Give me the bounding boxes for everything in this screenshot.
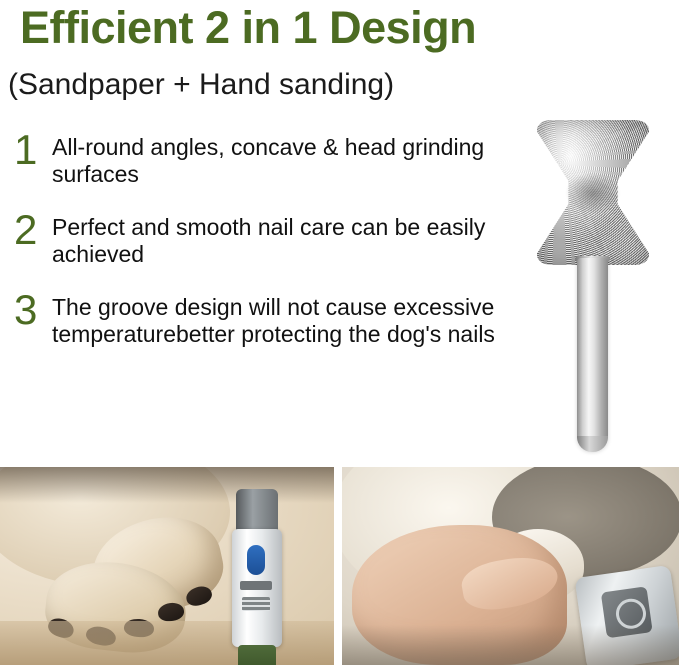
page-subtitle: (Sandpaper + Hand sanding) [8, 68, 394, 102]
list-item: 2 Perfect and smooth nail care can be ea… [12, 210, 522, 268]
feature-list: 1 All-round angles, concave & head grind… [12, 130, 522, 370]
trimmer-battery-indicator [242, 597, 270, 611]
product-image [520, 110, 670, 460]
photo-hand-holding-paw-with-grinder [342, 467, 679, 665]
trimmer-brand-label [240, 581, 272, 590]
feature-number: 1 [12, 130, 52, 170]
list-item: 3 The groove design will not cause exces… [12, 290, 522, 348]
photo-strip [0, 467, 679, 665]
page-title: Efficient 2 in 1 Design [20, 2, 476, 54]
grinding-head-groove-shadow [565, 172, 621, 214]
trimmer-head [236, 489, 278, 533]
feature-number: 3 [12, 290, 52, 330]
metal-shank [577, 258, 608, 450]
shank-tip [577, 436, 608, 452]
trimmer-power-button [247, 545, 265, 575]
feature-number: 2 [12, 210, 52, 250]
trimmer-base [238, 645, 276, 665]
nail-trimmer-device [228, 489, 286, 665]
feature-text: Perfect and smooth nail care can be easi… [52, 210, 522, 268]
list-item: 1 All-round angles, concave & head grind… [12, 130, 522, 188]
photo-bottom-shadow [342, 625, 679, 665]
photo-dog-paws-with-nail-trimmer [0, 467, 334, 665]
feature-text: All-round angles, concave & head grindin… [52, 130, 522, 188]
feature-text: The groove design will not cause excessi… [52, 290, 522, 348]
